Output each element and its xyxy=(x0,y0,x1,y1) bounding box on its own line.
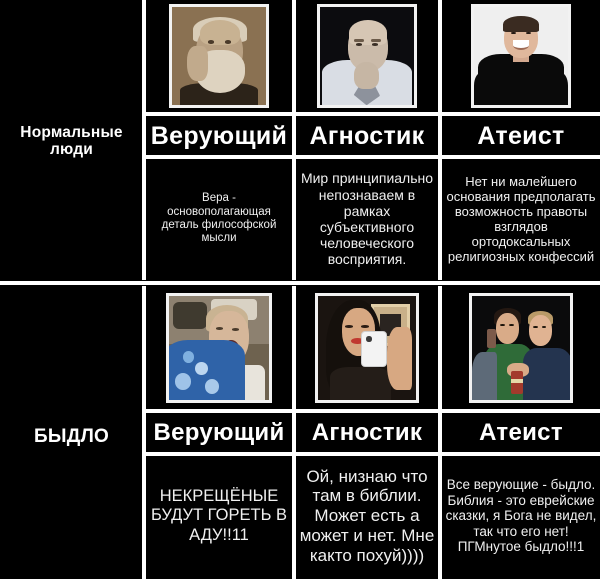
art-bald-elderly-man xyxy=(320,7,414,105)
row-label-bydlo: БЫДЛО xyxy=(0,412,143,462)
portrait-bydlo-believer xyxy=(146,288,292,408)
art-elderly-bearded-man xyxy=(172,7,266,105)
portrait-frame xyxy=(166,293,272,403)
row-label-normal-line2: люди xyxy=(20,141,122,158)
text-bydlo-believer: НЕКРЕЩЁНЫЕ БУДУТ ГОРЕТЬ В АДУ!!11 xyxy=(146,457,292,575)
text-normal-atheist: Нет ни малейшего основания предполагать … xyxy=(442,160,600,278)
header-normal-agnostic: Агностик xyxy=(296,117,438,155)
grid-hline-top-header-below xyxy=(142,155,600,159)
portrait-frame xyxy=(315,293,419,403)
portrait-normal-agnostic xyxy=(296,0,438,112)
art-smiling-man-black-tshirt xyxy=(474,7,568,105)
header-bydlo-believer: Верующий xyxy=(146,414,292,452)
portrait-normal-believer xyxy=(146,0,292,112)
grid-hline-bottom-header-below xyxy=(142,452,600,456)
meme-grid: Нормальные люди БЫДЛО xyxy=(0,0,600,579)
text-bydlo-agnostic: Ой, низнаю что там в библии. Может есть … xyxy=(296,457,438,575)
row-label-bydlo-line1: БЫДЛО xyxy=(34,426,109,447)
art-two-men-with-beer xyxy=(472,296,570,400)
header-normal-atheist: Атеист xyxy=(442,117,600,155)
grid-vline-3-bottom xyxy=(438,286,442,579)
header-bydlo-agnostic: Агностик xyxy=(296,414,438,452)
text-normal-agnostic: Мир принципиально непознаваем в рамках с… xyxy=(296,160,438,278)
grid-hline-row-divider xyxy=(0,281,600,285)
text-bydlo-atheist: Все верующие - быдло. Библия - это еврей… xyxy=(442,457,600,575)
art-shouting-woman xyxy=(169,296,269,400)
portrait-frame xyxy=(317,4,417,108)
grid-hline-bottom-header-above xyxy=(142,409,600,413)
grid-vline-2-bottom xyxy=(292,286,296,579)
row-label-normal-line1: Нормальные xyxy=(20,124,122,141)
portrait-frame xyxy=(471,4,571,108)
portrait-bydlo-agnostic xyxy=(296,288,438,408)
header-normal-believer: Верующий xyxy=(146,117,292,155)
portrait-bydlo-atheist xyxy=(442,288,600,408)
grid-vline-1-top xyxy=(142,0,146,280)
grid-hline-top-header-above xyxy=(142,112,600,116)
grid-vline-3-top xyxy=(438,0,442,280)
grid-vline-1-bottom xyxy=(142,286,146,579)
header-bydlo-atheist: Атеист xyxy=(442,414,600,452)
portrait-normal-atheist xyxy=(442,0,600,112)
portrait-frame xyxy=(169,4,269,108)
text-normal-believer: Вера - основополагающая деталь философск… xyxy=(146,160,292,278)
row-label-normal-people: Нормальные люди xyxy=(0,110,143,172)
portrait-frame xyxy=(469,293,573,403)
grid-vline-2-top xyxy=(292,0,296,280)
art-mirror-selfie-woman xyxy=(318,296,416,400)
